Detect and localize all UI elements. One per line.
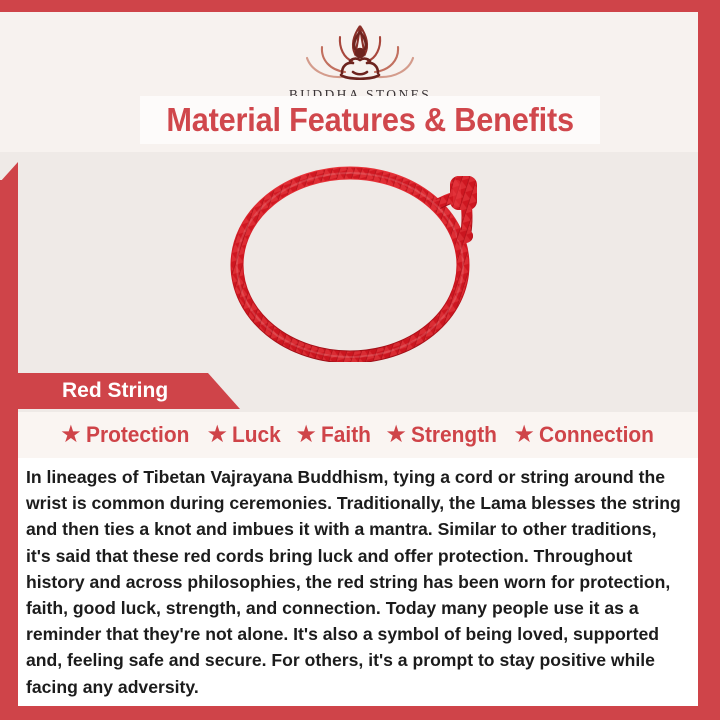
star-icon: ★ [385, 423, 407, 447]
page-title-band: Material Features & Benefits [140, 96, 600, 144]
benefit-item-faith: ★ Faith [295, 422, 373, 448]
star-icon: ★ [513, 423, 535, 447]
infographic-page: BUDDHA STONES Material Features & Benefi… [0, 0, 720, 720]
benefit-label: Faith [321, 422, 371, 448]
frame-border-bottom [0, 706, 720, 720]
benefit-label: Strength [411, 422, 497, 448]
benefit-item-protection: ★ Protection [60, 422, 194, 448]
star-icon: ★ [206, 423, 228, 447]
product-name-label: Red String [0, 379, 168, 403]
description-paragraph: In lineages of Tibetan Vajrayana Buddhis… [18, 458, 698, 700]
benefit-item-connection: ★ Connection [513, 422, 660, 448]
page-title: Material Features & Benefits [166, 101, 574, 139]
frame-border-left [0, 180, 18, 720]
red-string-bracelet-image [210, 162, 510, 362]
star-icon: ★ [60, 423, 82, 447]
benefits-row: ★ Protection ★ Luck ★ Faith ★ Strength ★… [0, 412, 720, 458]
benefit-item-luck: ★ Luck [206, 422, 283, 448]
frame-border-right [698, 0, 720, 720]
frame-border-top [0, 0, 720, 12]
product-name-banner: Red String [0, 373, 240, 409]
star-icon: ★ [295, 423, 317, 447]
benefit-item-strength: ★ Strength [385, 422, 501, 448]
benefit-label: Protection [86, 422, 189, 448]
lotus-meditation-icon [295, 20, 425, 86]
benefit-label: Connection [539, 422, 654, 448]
description-section: In lineages of Tibetan Vajrayana Buddhis… [18, 458, 698, 706]
product-image-area [0, 152, 720, 370]
benefit-label: Luck [232, 422, 281, 448]
brand-logo: BUDDHA STONES [0, 20, 720, 103]
